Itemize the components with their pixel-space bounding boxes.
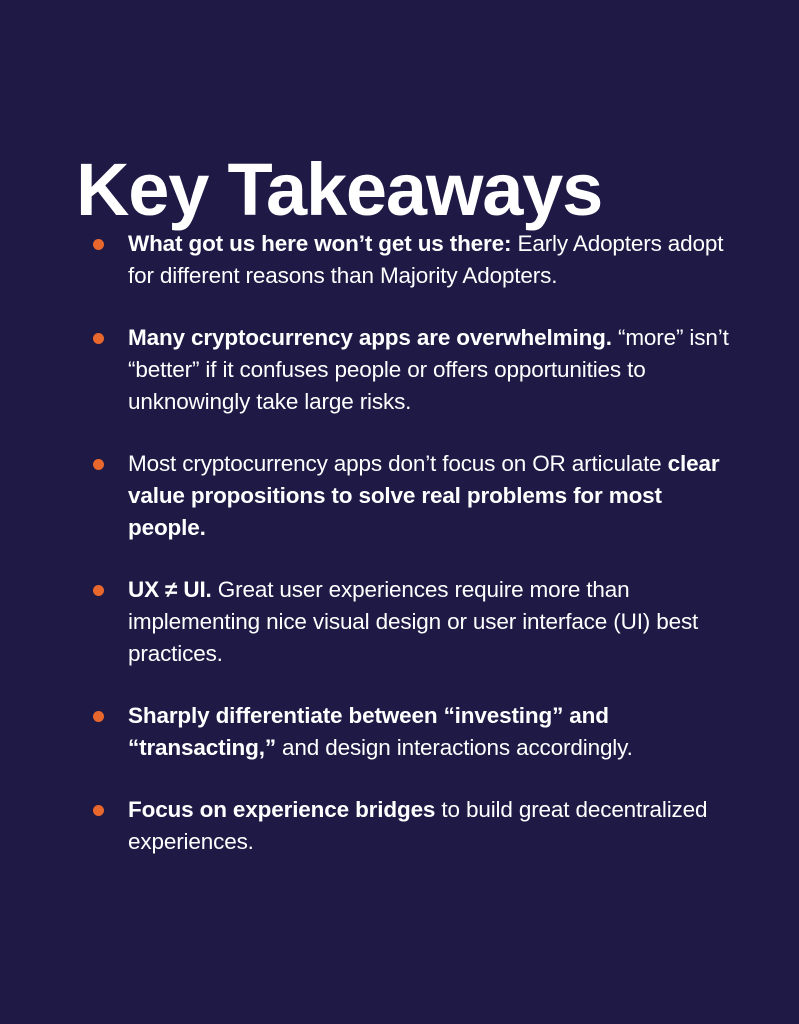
bullet-dot-icon [93, 459, 104, 470]
list-item-bold-lead: What got us here won’t get us there: [128, 231, 511, 256]
takeaway-list: What got us here won’t get us there: Ear… [90, 228, 730, 858]
list-item: Focus on experience bridges to build gre… [90, 794, 730, 858]
list-item-bold-lead: UX ≠ UI. [128, 577, 212, 602]
list-item: Most cryptocurrency apps don’t focus on … [90, 448, 730, 544]
bullet-dot-icon [93, 239, 104, 250]
list-item: What got us here won’t get us there: Ear… [90, 228, 730, 292]
bullet-dot-icon [93, 585, 104, 596]
bullet-dot-icon [93, 805, 104, 816]
bullet-dot-icon [93, 711, 104, 722]
list-item-regular-tail: Great user experiences require more than… [128, 577, 698, 666]
page-title: Key Takeaways [76, 153, 602, 227]
list-item: UX ≠ UI. Great user experiences require … [90, 574, 730, 670]
list-item-bold-lead: Focus on experience bridges [128, 797, 435, 822]
bullet-dot-icon [93, 333, 104, 344]
list-item: Many cryptocurrency apps are overwhelmin… [90, 322, 730, 418]
slide-root: Key Takeaways What got us here won’t get… [0, 0, 799, 1024]
list-item-bold-lead: Many cryptocurrency apps are overwhelmin… [128, 325, 612, 350]
list-item-regular-tail: and design interactions accordingly. [276, 735, 633, 760]
list-item-regular-lead: Most cryptocurrency apps don’t focus on … [128, 451, 668, 476]
list-item: Sharply differentiate between “investing… [90, 700, 730, 764]
